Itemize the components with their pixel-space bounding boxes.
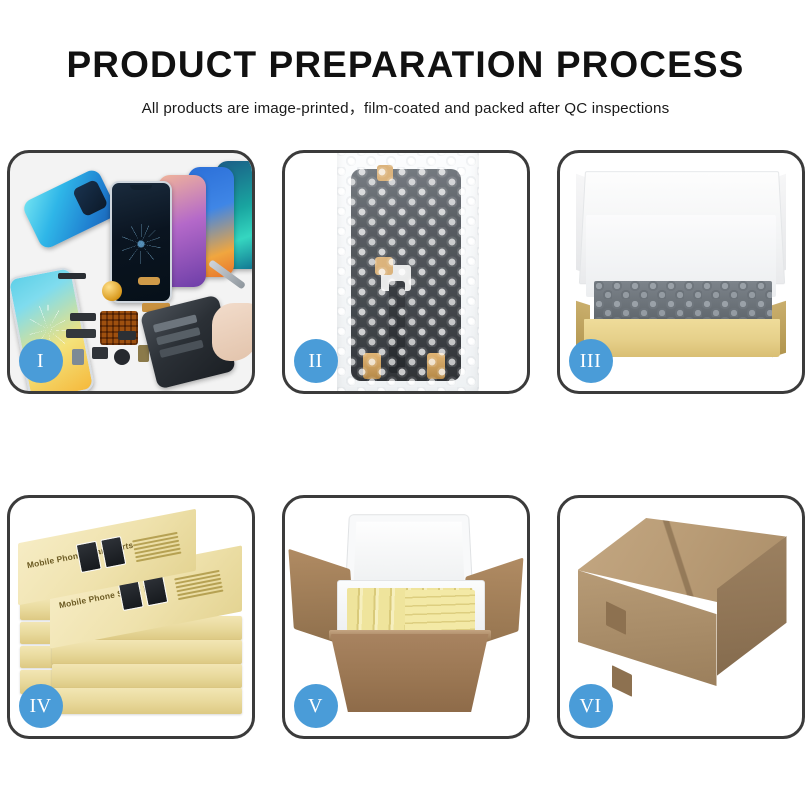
flex-cable-1	[58, 273, 86, 279]
process-step-panel-3: III	[557, 150, 805, 394]
page-header: PRODUCT PREPARATION PROCESS All products…	[0, 0, 811, 118]
lcd-screen-assembly	[351, 169, 461, 381]
packed-boxes-row-2	[405, 590, 475, 632]
process-step-panel-6: VI	[557, 495, 805, 739]
gold-contact-right	[427, 353, 445, 379]
speaker-component	[102, 281, 122, 301]
process-step-panel-2: II	[282, 150, 530, 394]
phone-notch	[130, 185, 152, 190]
stacked-box-edge-7	[52, 640, 242, 664]
process-step-panel-4: Mobile Phone Spare Parts	[7, 495, 255, 739]
small-part-1	[72, 349, 84, 365]
small-part-2	[92, 347, 108, 359]
screen-flex-cable	[389, 281, 405, 373]
step-badge-5: V	[294, 684, 338, 728]
product-preparation-process-page: PRODUCT PREPARATION PROCESS All products…	[0, 0, 811, 811]
box-screen-thumb	[100, 536, 126, 568]
step-badge-2: II	[294, 339, 338, 383]
tape-piece-top	[377, 165, 393, 181]
stacked-box-edge-8	[52, 664, 242, 688]
page-title: PRODUCT PREPARATION PROCESS	[0, 0, 811, 85]
gold-contact-left	[363, 353, 381, 379]
carton-body	[331, 634, 489, 712]
stacked-box-edge-9	[52, 688, 242, 714]
back-glass-blue	[20, 167, 118, 251]
step-badge-3: III	[569, 339, 613, 383]
technician-hand	[212, 303, 252, 361]
foam-lid-open	[344, 514, 472, 590]
step-badge-4: IV	[19, 684, 63, 728]
box-front-kraft	[584, 319, 780, 357]
small-part-5	[118, 331, 136, 340]
process-step-panel-1: I	[7, 150, 255, 394]
camera-module	[114, 349, 130, 365]
flex-cable-2	[70, 313, 96, 321]
housing-internals	[152, 314, 197, 332]
process-step-panel-5: V	[282, 495, 530, 739]
flex-cable-3	[66, 329, 96, 338]
step-badge-1: I	[19, 339, 63, 383]
process-steps-grid: I II	[0, 150, 811, 739]
tape-piece-middle	[375, 257, 393, 275]
flex-cable-gold-1	[138, 277, 160, 285]
step-badge-6: VI	[569, 684, 613, 728]
page-subtitle: All products are image-printed，film-coat…	[0, 85, 811, 118]
carton-tape-lower	[612, 665, 632, 697]
small-part-4	[138, 345, 149, 362]
crack-pattern	[121, 224, 161, 264]
